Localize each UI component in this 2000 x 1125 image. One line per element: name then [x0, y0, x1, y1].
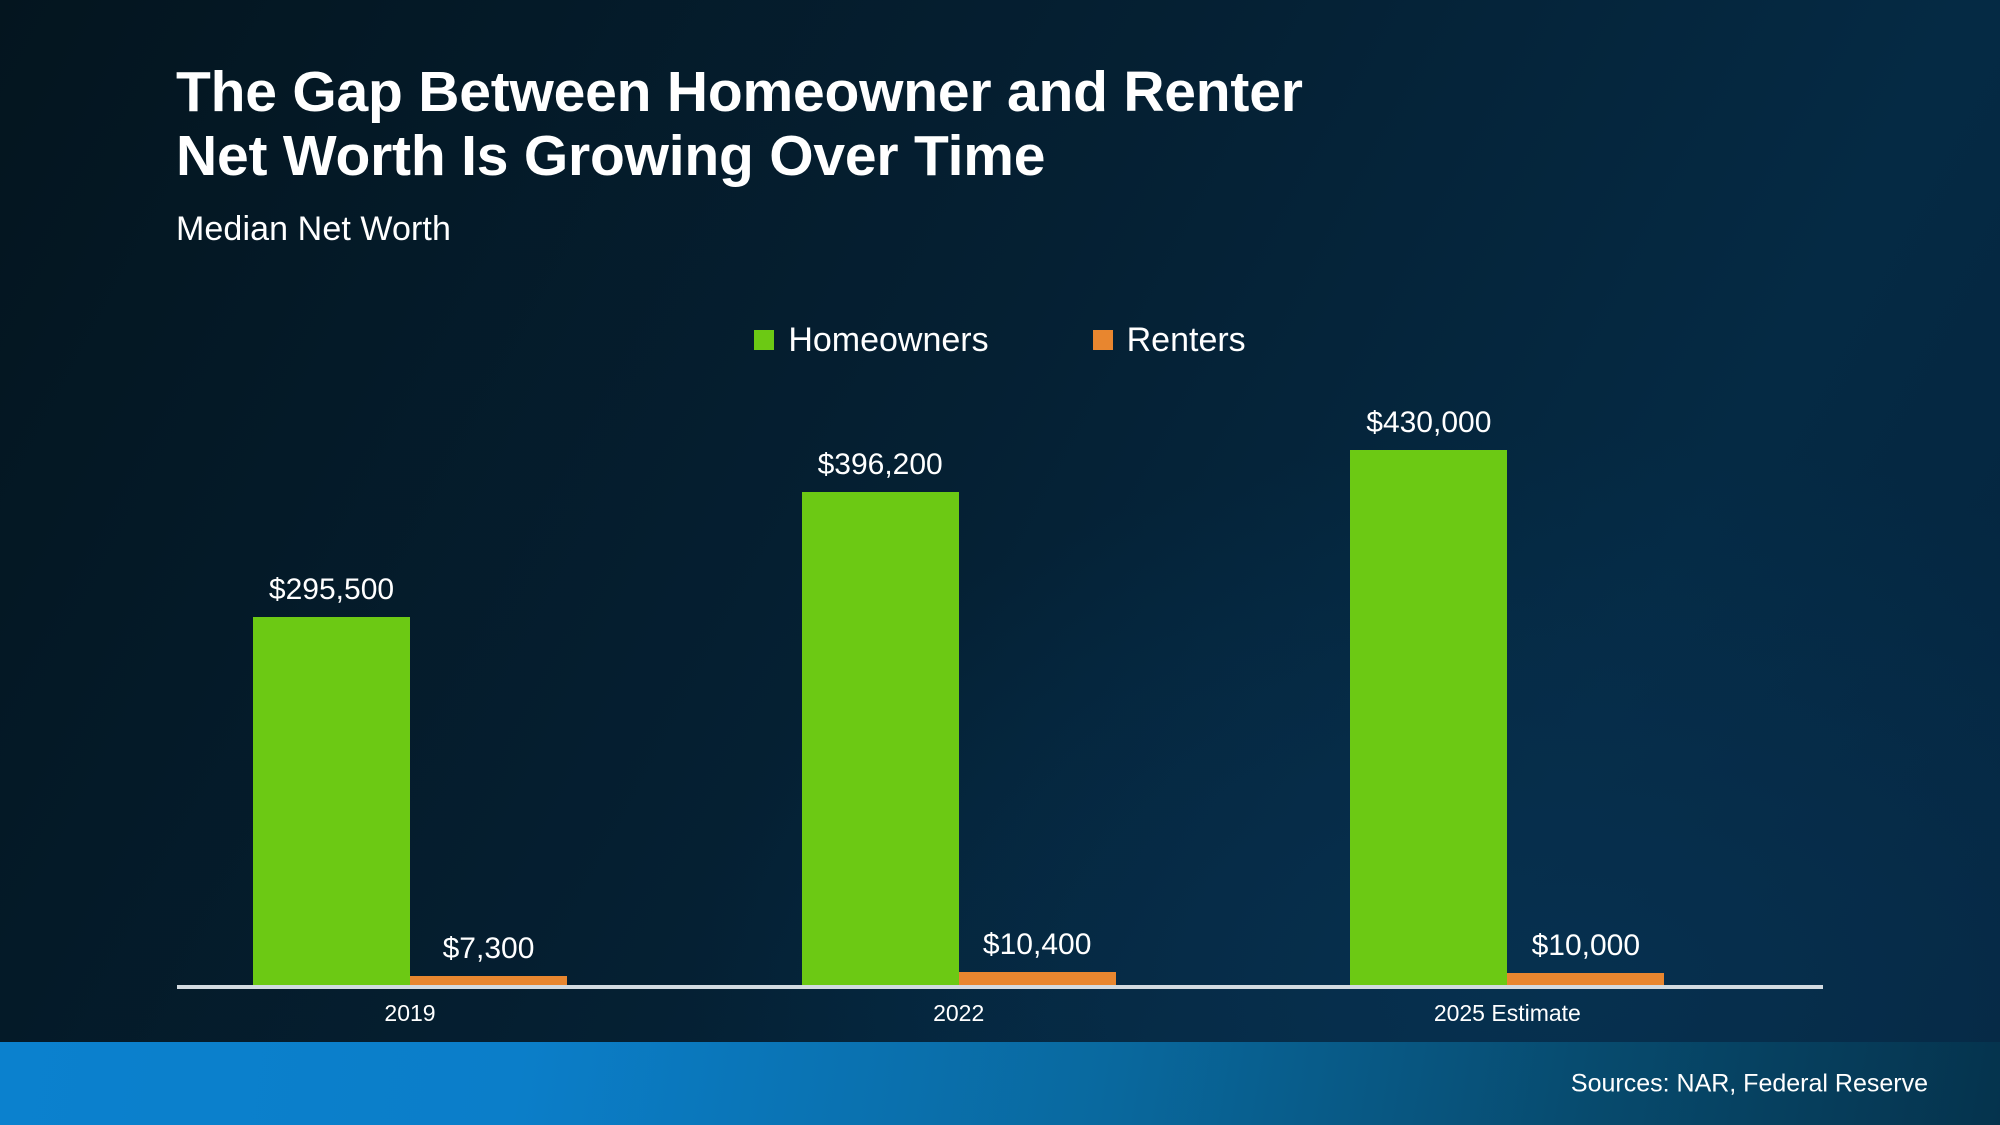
page-subtitle: Median Net Worth: [176, 210, 1676, 249]
slide-canvas: The Gap Between Homeowner and Renter Net…: [0, 0, 2000, 1125]
bar-value-label: $7,300: [443, 934, 535, 964]
footer-bar: Sources: NAR, Federal Reserve: [0, 1042, 2000, 1125]
page-title: The Gap Between Homeowner and Renter Net…: [176, 60, 1676, 189]
bar-value-label: $396,200: [818, 450, 943, 480]
category-label-2022: 2022: [933, 1002, 984, 1025]
bar-group: $430,000$10,000: [1350, 400, 1664, 985]
source-attribution: Sources: NAR, Federal Reserve: [1571, 1071, 1928, 1096]
category-label-2019: 2019: [384, 1002, 435, 1025]
bar-group: $396,200$10,400: [802, 400, 1116, 985]
heading-block: The Gap Between Homeowner and Renter Net…: [176, 60, 1676, 249]
legend-item-renters[interactable]: Renters: [1093, 323, 1246, 357]
category-label-2025-estimate: 2025 Estimate: [1434, 1002, 1581, 1025]
chart-legend: Homeowners Renters: [0, 323, 2000, 357]
bar-renters-2025-estimate[interactable]: $10,000: [1507, 973, 1664, 985]
bar-renters-2022[interactable]: $10,400: [959, 972, 1116, 985]
square-swatch-icon: [754, 330, 774, 350]
bar-chart-plot-area: $295,500$7,300$396,200$10,400$430,000$10…: [177, 400, 1823, 985]
bar-value-label: $295,500: [269, 575, 394, 605]
bar-value-label: $10,000: [1532, 931, 1640, 961]
bar-homeowners-2022[interactable]: $396,200: [802, 492, 959, 985]
x-axis-line: [177, 985, 1823, 989]
legend-label-renters: Renters: [1127, 323, 1246, 357]
bar-group: $295,500$7,300: [253, 400, 567, 985]
legend-label-homeowners: Homeowners: [788, 323, 988, 357]
bar-homeowners-2019[interactable]: $295,500: [253, 617, 410, 985]
bar-homeowners-2025-estimate[interactable]: $430,000: [1350, 450, 1507, 985]
bar-value-label: $10,400: [983, 930, 1091, 960]
x-axis-category-labels: 201920222025 Estimate: [177, 1002, 1823, 1038]
bar-value-label: $430,000: [1366, 408, 1491, 438]
square-swatch-icon: [1093, 330, 1113, 350]
bar-renters-2019[interactable]: $7,300: [410, 976, 567, 985]
legend-item-homeowners[interactable]: Homeowners: [754, 323, 988, 357]
